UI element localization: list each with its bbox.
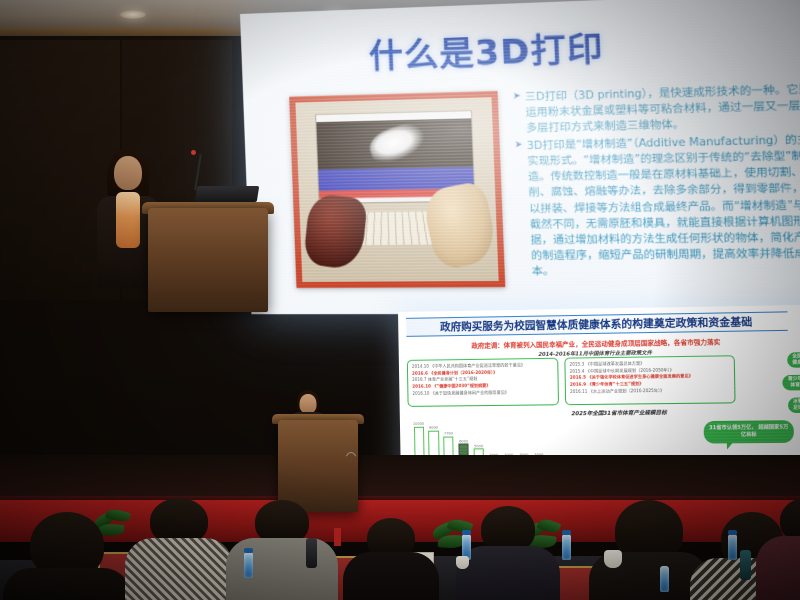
speaker-head (114, 156, 142, 190)
bottle-cap (728, 530, 737, 535)
thermos-flask (740, 550, 751, 580)
slide-bottom-title: 政府购买服务为校园智慧体质健康体系的构建奠定政策和资金基础 (440, 314, 752, 334)
chart-bar-value: 10000 (413, 422, 424, 426)
policy-doc-item: 2016.11 《水上运动产业规划（2016-2025年）》 (570, 387, 730, 396)
slide-bullet: ➤ 三D打印（3D printing），是快速成形技术的一种。它是运用粉末状金属… (512, 82, 800, 137)
water-bottle (660, 566, 669, 592)
podium-laptop (195, 186, 260, 202)
chart-bar-value: 7700 (444, 432, 453, 436)
stage-marker (334, 528, 341, 546)
chart-bar-value: 9000 (429, 426, 438, 430)
bullet-arrow-icon: ➤ (514, 139, 528, 280)
printed-object-light (421, 181, 499, 272)
policy-doc-list-left: 2014.10 《中华人民共和国体育产业促进法草案的若干意见》2016.6 《全… (407, 358, 559, 407)
bottle-cap (562, 530, 571, 535)
microphone-icon (191, 150, 196, 155)
audience-shoulders (343, 552, 439, 600)
bullet-arrow-icon: ➤ (512, 90, 522, 137)
speaker-scarf (116, 192, 140, 248)
policy-badge: 全民 健身 (787, 352, 800, 368)
audience-shoulders (125, 538, 233, 600)
bottle-cap (462, 530, 471, 535)
projection-screen-top: 什么是3D打印 ➤ 三D打印（3D printing），是快速成形技术的一种。它… (240, 0, 800, 314)
chart-bar-value: 6000 (459, 439, 468, 443)
audience-shoulders (756, 536, 800, 600)
audience-member (348, 518, 434, 600)
audience-member (462, 506, 554, 600)
3d-model-preview (366, 120, 429, 167)
audience-member (12, 512, 122, 600)
audience-shoulders (3, 568, 131, 600)
water-bottle (562, 534, 571, 560)
tea-cup (604, 550, 622, 568)
podium-upper (148, 208, 268, 312)
tea-cup (456, 556, 469, 569)
water-bottle (244, 552, 253, 578)
slide-top-body: ➤ 三D打印（3D printing），是快速成形技术的一种。它是运用粉末状金属… (512, 82, 800, 282)
audience-shoulders (226, 538, 338, 600)
conference-hall-scene: 什么是3D打印 ➤ 三D打印（3D printing），是快速成形技术的一种。它… (0, 0, 800, 600)
slide-bullet-text: 3D打印是“增材制造”（Additive Manufacturing）的主要实现… (527, 132, 800, 279)
bottle-cap (244, 548, 253, 553)
mic-cable (342, 452, 360, 496)
slide-bullet-text: 三D打印（3D printing），是快速成形技术的一种。它是运用粉末状金属或塑… (525, 82, 800, 137)
audience-member (132, 498, 226, 600)
policy-badge: 青少年 体育 (782, 375, 800, 391)
policy-doc-list-right: 2015.3 《中国足球改革发展总体方案》2015.4 《中国足球中长期发展规划… (564, 355, 735, 405)
chart-callout-bubble: 31省市认领5万亿， 超越国家5万亿目标 (704, 420, 794, 443)
policy-doc-item: 2016.10 《关于加快发展健身休闲产业的指导意见》 (412, 389, 553, 397)
slide-top-image (289, 91, 505, 288)
water-bottle (728, 534, 737, 560)
ceiling-light-icon (120, 10, 146, 19)
printed-object-dark (303, 192, 368, 271)
audience-shoulders (456, 546, 560, 600)
thermos-flask (306, 538, 317, 568)
slide-top-title: 什么是3D打印 (368, 21, 605, 78)
chart-bar-value: 5000 (474, 444, 483, 448)
stage-backdrop (0, 455, 800, 501)
speaker-head (300, 394, 317, 414)
slide-bottom-titlebar: 政府购买服务为校园智慧体质健康体系的构建奠定政策和资金基础 (406, 311, 788, 337)
slide-bullet: ➤ 3D打印是“增材制造”（Additive Manufacturing）的主要… (514, 132, 800, 279)
audience-member (766, 498, 800, 600)
policy-badge: 冰雪 足球 (788, 397, 800, 413)
